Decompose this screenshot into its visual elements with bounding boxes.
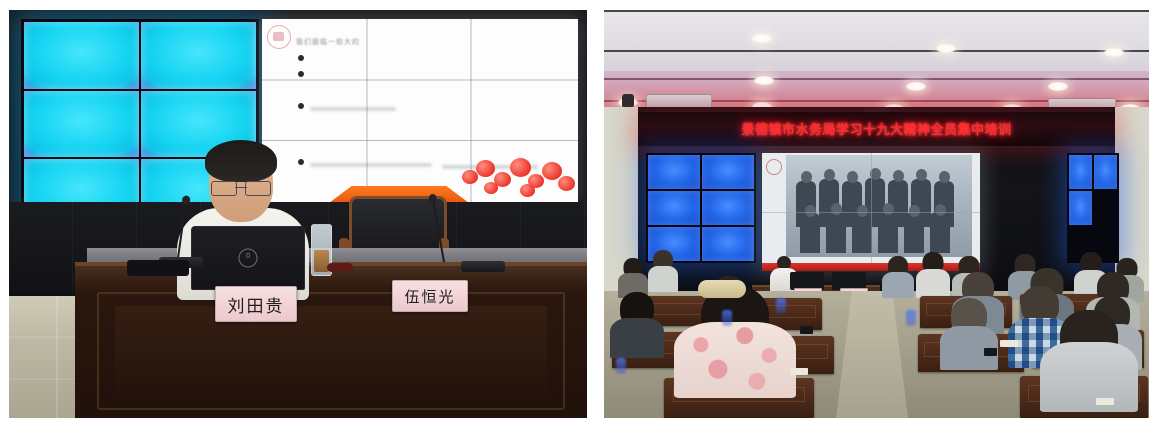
seat-indicator-light bbox=[722, 310, 732, 326]
ceiling-downlight bbox=[754, 76, 774, 85]
nameplate-liu-tiangui: 刘田贵 bbox=[215, 286, 297, 322]
blue-panel bbox=[648, 191, 700, 225]
blue-panel bbox=[1094, 155, 1117, 189]
paper-notebook bbox=[1096, 398, 1114, 405]
dell-logo-icon: D bbox=[239, 249, 258, 268]
cyan-panel bbox=[141, 22, 256, 89]
audience-member bbox=[882, 256, 914, 298]
hair-bow-accessory bbox=[698, 278, 746, 298]
blue-video-wall-right bbox=[1067, 153, 1119, 263]
led-banner: 景德镇市水务局学习十九大精神全员集中培训 bbox=[638, 112, 1115, 146]
ceiling-downlight bbox=[752, 34, 772, 43]
seat-indicator-light bbox=[776, 298, 786, 314]
blue-panel bbox=[702, 155, 754, 189]
microphone-base bbox=[461, 261, 505, 272]
seat-indicator-light bbox=[906, 310, 916, 326]
slide-bullet-icon bbox=[298, 103, 304, 109]
composite-image-canvas: 我们面临一些大的 bbox=[0, 0, 1158, 427]
paper-notebook bbox=[1000, 340, 1018, 347]
ceiling-downlight bbox=[906, 82, 926, 91]
cyan-panel bbox=[24, 22, 139, 89]
smartphone-on-desk bbox=[984, 348, 997, 356]
led-banner-text: 景德镇市水务局学习十九大精神全员集中培训 bbox=[741, 123, 1011, 136]
slide-text-line bbox=[310, 107, 396, 111]
cyan-panel bbox=[24, 91, 139, 158]
security-camera-icon bbox=[622, 94, 634, 108]
blue-panel bbox=[702, 191, 754, 225]
slide-seal-icon bbox=[267, 25, 291, 49]
blue-panel bbox=[1069, 191, 1092, 225]
right-photo: 景德镇市水务局学习十九大精神全员集中培训 bbox=[604, 10, 1149, 418]
ceiling-downlight bbox=[1048, 82, 1068, 91]
ceiling-downlight bbox=[1104, 48, 1124, 57]
audience-member bbox=[610, 292, 664, 358]
blue-video-wall-left bbox=[646, 153, 756, 263]
paper-notebook bbox=[790, 368, 808, 375]
audience-member bbox=[940, 298, 998, 370]
blue-panel bbox=[648, 155, 700, 189]
smartphone-on-desk bbox=[800, 326, 813, 334]
dell-laptop: D bbox=[191, 226, 305, 290]
slide-flower-decoration bbox=[456, 154, 578, 202]
slide-text-line bbox=[310, 163, 432, 167]
blue-panel bbox=[1069, 155, 1092, 189]
desk-equipment bbox=[327, 263, 353, 272]
wooden-podium-desk bbox=[75, 262, 587, 418]
slide-bullet-icon bbox=[298, 55, 304, 61]
audience-member bbox=[1040, 310, 1138, 412]
slide-bullet-icon bbox=[298, 71, 304, 77]
desk-equipment bbox=[127, 260, 189, 276]
audience-member bbox=[916, 252, 950, 298]
presentation-slide-screen: 我们面临一些大的 bbox=[262, 19, 578, 202]
left-photo: 我们面临一些大的 bbox=[9, 10, 587, 418]
slide-title-text: 我们面临一些大的 bbox=[296, 37, 360, 47]
seat-indicator-light bbox=[616, 358, 626, 374]
blue-panel bbox=[702, 227, 754, 261]
ceiling-downlight bbox=[936, 44, 956, 53]
eyeglasses-icon bbox=[211, 181, 271, 194]
nameplate-wu-hengguang: 伍恒光 bbox=[392, 280, 468, 312]
speaker-hair bbox=[205, 140, 277, 182]
ceiling bbox=[604, 10, 1149, 107]
